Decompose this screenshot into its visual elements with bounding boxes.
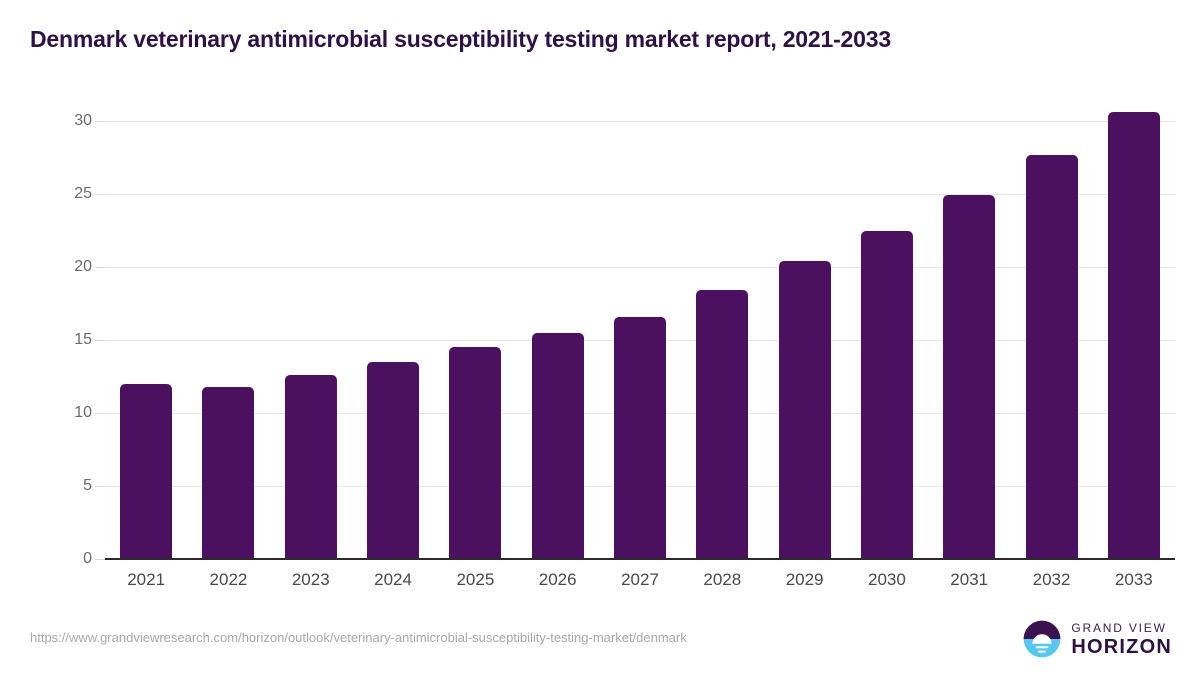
- x-tick-label: 2027: [621, 570, 659, 590]
- logo-wordmark: GRAND VIEW HORIZON: [1071, 622, 1172, 657]
- x-axis-line: [105, 558, 1175, 560]
- y-tick-mark: [95, 559, 105, 560]
- bar[interactable]: [120, 384, 172, 559]
- y-tick-mark: [95, 486, 105, 487]
- y-tick-label: 15: [32, 331, 92, 349]
- bar[interactable]: [779, 261, 831, 559]
- y-tick-mark: [95, 121, 105, 122]
- bar[interactable]: [285, 375, 337, 559]
- chart-page: Denmark veterinary antimicrobial suscept…: [0, 0, 1200, 675]
- y-tick-mark: [95, 194, 105, 195]
- x-tick-label: 2023: [292, 570, 330, 590]
- x-tick-label: 2028: [703, 570, 741, 590]
- y-tick-mark: [95, 267, 105, 268]
- y-tick-mark: [95, 413, 105, 414]
- bar[interactable]: [532, 333, 584, 559]
- grand-view-horizon-logo[interactable]: GRAND VIEW HORIZON: [1022, 619, 1172, 659]
- x-tick-label: 2031: [950, 570, 988, 590]
- bar[interactable]: [367, 362, 419, 559]
- y-tick-mark: [95, 340, 105, 341]
- y-tick-label: 5: [32, 477, 92, 495]
- y-tick-label: 10: [32, 404, 92, 422]
- logo-line-1: GRAND VIEW: [1071, 622, 1172, 634]
- plot-area: [105, 118, 1175, 559]
- chart-canvas: Market Size (US$Ms) 051015202530 2021202…: [0, 0, 1200, 675]
- bar[interactable]: [202, 387, 254, 559]
- bar[interactable]: [1026, 155, 1078, 559]
- logo-line-2: HORIZON: [1071, 637, 1172, 657]
- x-tick-label: 2026: [539, 570, 577, 590]
- x-tick-label: 2030: [868, 570, 906, 590]
- horizon-logo-icon: [1022, 619, 1062, 659]
- bar[interactable]: [943, 195, 995, 559]
- y-tick-label: 20: [32, 258, 92, 276]
- bar[interactable]: [1108, 112, 1160, 559]
- x-tick-label: 2021: [127, 570, 165, 590]
- gridline: [105, 121, 1175, 122]
- bar[interactable]: [861, 231, 913, 560]
- x-tick-label: 2029: [786, 570, 824, 590]
- bar[interactable]: [696, 290, 748, 559]
- x-tick-label: 2033: [1115, 570, 1153, 590]
- bar[interactable]: [449, 347, 501, 559]
- y-tick-label: 25: [32, 185, 92, 203]
- y-tick-label: 30: [32, 112, 92, 130]
- x-tick-label: 2032: [1033, 570, 1071, 590]
- x-tick-label: 2022: [210, 570, 248, 590]
- gridline: [105, 194, 1175, 195]
- x-tick-label: 2025: [456, 570, 494, 590]
- bar[interactable]: [614, 317, 666, 559]
- y-tick-label: 0: [32, 550, 92, 568]
- x-tick-label: 2024: [374, 570, 412, 590]
- gridline: [105, 267, 1175, 268]
- source-url[interactable]: https://www.grandviewresearch.com/horizo…: [30, 630, 687, 645]
